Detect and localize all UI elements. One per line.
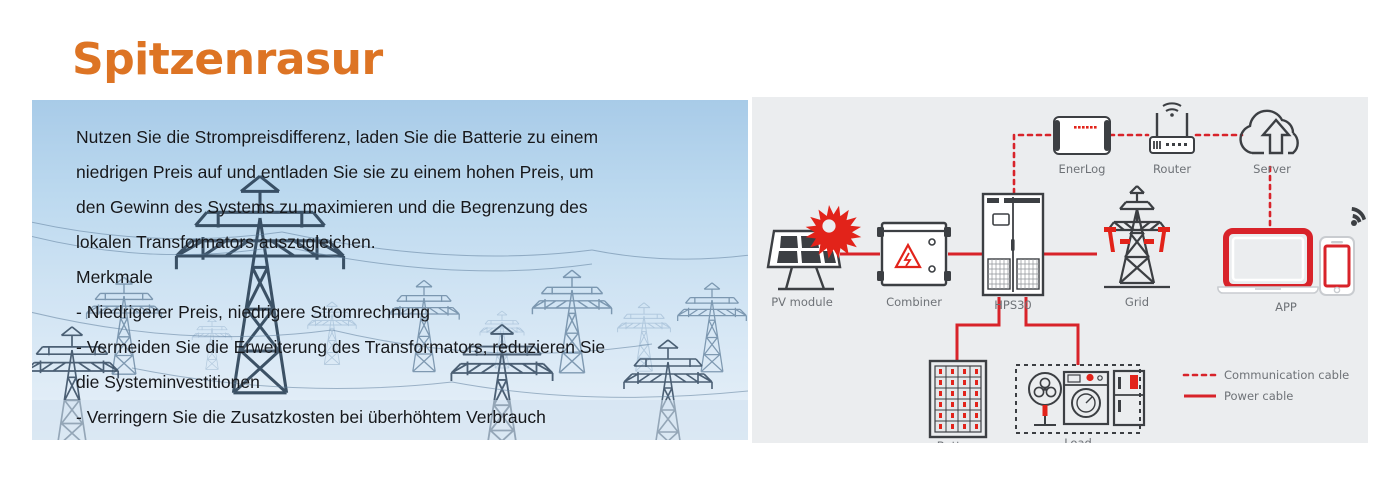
battery-rack-icon bbox=[930, 361, 986, 437]
combiner-label: Combiner bbox=[886, 295, 942, 309]
system-diagram-panel: EnerLog Router bbox=[752, 97, 1368, 443]
system-topology-diagram: EnerLog Router bbox=[752, 97, 1368, 443]
power-cabinet-icon bbox=[983, 194, 1043, 295]
comm-cable-hps30-enerlog bbox=[1014, 135, 1052, 193]
hps30-label: HPS30 bbox=[994, 298, 1032, 312]
battery-label: Battery bbox=[937, 439, 980, 443]
diagram-legend: Communication cable Power cable bbox=[1184, 368, 1349, 403]
router-label: Router bbox=[1153, 162, 1191, 176]
feature-line: - Verringern Sie die Zusatzkosten bei üb… bbox=[76, 400, 718, 435]
server-label: Server bbox=[1253, 162, 1291, 176]
fan-icon bbox=[1029, 373, 1061, 425]
transmission-tower-icon bbox=[1104, 186, 1170, 287]
router-icon bbox=[1150, 103, 1194, 153]
washing-machine-icon bbox=[1064, 372, 1108, 424]
description-paragraph: Nutzen Sie die Strompreisdifferenz, lade… bbox=[76, 120, 718, 260]
grid-label: Grid bbox=[1125, 295, 1149, 309]
legend-power-label: Power cable bbox=[1224, 389, 1293, 403]
combiner-box-icon bbox=[877, 223, 951, 285]
communication-cables bbox=[1014, 135, 1270, 227]
features-heading: Merkmale bbox=[76, 260, 718, 295]
laptop-phone-icon bbox=[1218, 207, 1366, 295]
feature-line: - Niedrigerer Preis, niedrigere Stromrec… bbox=[76, 295, 718, 330]
page-title: Spitzenrasur bbox=[72, 38, 383, 82]
features-list: - Niedrigerer Preis, niedrigere Stromrec… bbox=[76, 295, 718, 435]
pv-module-label: PV module bbox=[771, 295, 833, 309]
slide-root: Spitzenrasur bbox=[0, 0, 1400, 500]
enerlog-label: EnerLog bbox=[1059, 162, 1106, 176]
description-line: den Gewinn des Systems zu maximieren und… bbox=[76, 190, 718, 225]
description-line: lokalen Transformators auszugleichen. bbox=[76, 225, 718, 260]
description-line: Nutzen Sie die Strompreisdifferenz, lade… bbox=[76, 120, 718, 155]
enerlog-icon bbox=[1054, 117, 1110, 154]
legend-communication-label: Communication cable bbox=[1224, 368, 1349, 382]
app-label: APP bbox=[1275, 300, 1297, 314]
power-cables bbox=[840, 254, 1097, 365]
cloud-server-icon bbox=[1241, 111, 1298, 153]
feature-line: die Systeminvestitionen bbox=[76, 365, 718, 400]
appliances-icon bbox=[1016, 365, 1144, 433]
description-line: niedrigen Preis auf und entladen Sie sie… bbox=[76, 155, 718, 190]
panel-text-overlay: Nutzen Sie die Strompreisdifferenz, lade… bbox=[76, 120, 718, 435]
feature-line: - Vermeiden Sie die Erweiterung des Tran… bbox=[76, 330, 718, 365]
load-label: Load bbox=[1064, 436, 1092, 443]
power-cable-hps30-battery bbox=[957, 297, 999, 361]
power-cable-hps30-load bbox=[1026, 297, 1078, 365]
solar-panel-icon bbox=[768, 205, 861, 289]
wifi-signal-icon bbox=[1351, 207, 1366, 226]
peak-shaving-photo-panel: Nutzen Sie die Strompreisdifferenz, lade… bbox=[32, 100, 748, 440]
